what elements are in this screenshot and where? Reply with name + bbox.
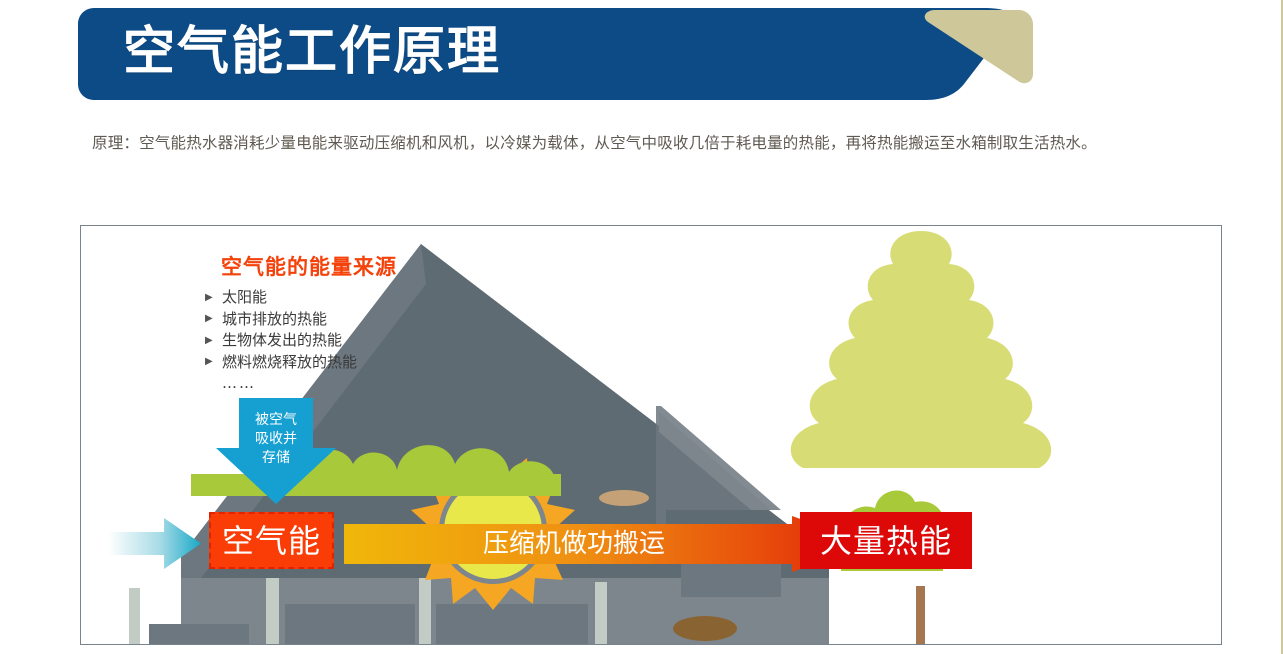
- tree-icon: [791, 231, 1051, 645]
- air-energy-label: 空气能: [222, 525, 321, 557]
- list-item: ▶ 生物体发出的热能: [205, 330, 357, 352]
- page-title: 空气能工作原理: [123, 20, 501, 84]
- inflow-arrow-icon: [108, 518, 201, 569]
- list-item: ▶ 燃料燃烧释放的热能: [205, 352, 357, 374]
- heat-energy-label: 大量热能: [820, 525, 952, 557]
- slide-page: 空气能工作原理 原理：空气能热水器消耗少量电能来驱动压缩机和风机，以冷媒为载体，…: [0, 0, 1283, 654]
- air-energy-box: 空气能: [209, 512, 334, 569]
- triangle-bullet-icon: ▶: [205, 314, 215, 324]
- list-item: ▶ 太阳能: [205, 287, 357, 309]
- heat-energy-box: 大量热能: [800, 512, 972, 569]
- compressor-transfer-label: 压缩机做功搬运: [344, 529, 804, 559]
- list-item-label: 城市排放的热能: [222, 309, 327, 331]
- diagram-panel: 空气能的能量来源 ▶ 太阳能 ▶ 城市排放的热能 ▶ 生物体发出的热能 ▶ 燃料…: [80, 225, 1222, 645]
- intro-paragraph: 原理：空气能热水器消耗少量电能来驱动压缩机和风机，以冷媒为载体，从空气中吸收几倍…: [92, 128, 1132, 159]
- energy-source-heading: 空气能的能量来源: [221, 251, 397, 281]
- title-banner: 空气能工作原理: [78, 8, 1038, 106]
- absorb-arrow-label: 被空气 吸收并 存储: [229, 411, 323, 468]
- ground-shadow-bottom: [673, 616, 737, 641]
- list-item-ellipsis: ……: [205, 373, 357, 395]
- triangle-bullet-icon: ▶: [205, 357, 215, 367]
- list-item-label: 生物体发出的热能: [222, 330, 342, 352]
- list-item-label: 太阳能: [222, 287, 267, 309]
- list-item-label: 燃料燃烧释放的热能: [222, 352, 357, 374]
- banner-corner-accent-icon: [923, 10, 1033, 88]
- energy-source-list: ▶ 太阳能 ▶ 城市排放的热能 ▶ 生物体发出的热能 ▶ 燃料燃烧释放的热能 ……: [205, 287, 357, 395]
- ground-shadow-house: [599, 490, 649, 506]
- triangle-bullet-icon: ▶: [205, 293, 215, 303]
- triangle-bullet-icon: ▶: [205, 336, 215, 346]
- list-item: ▶ 城市排放的热能: [205, 309, 357, 331]
